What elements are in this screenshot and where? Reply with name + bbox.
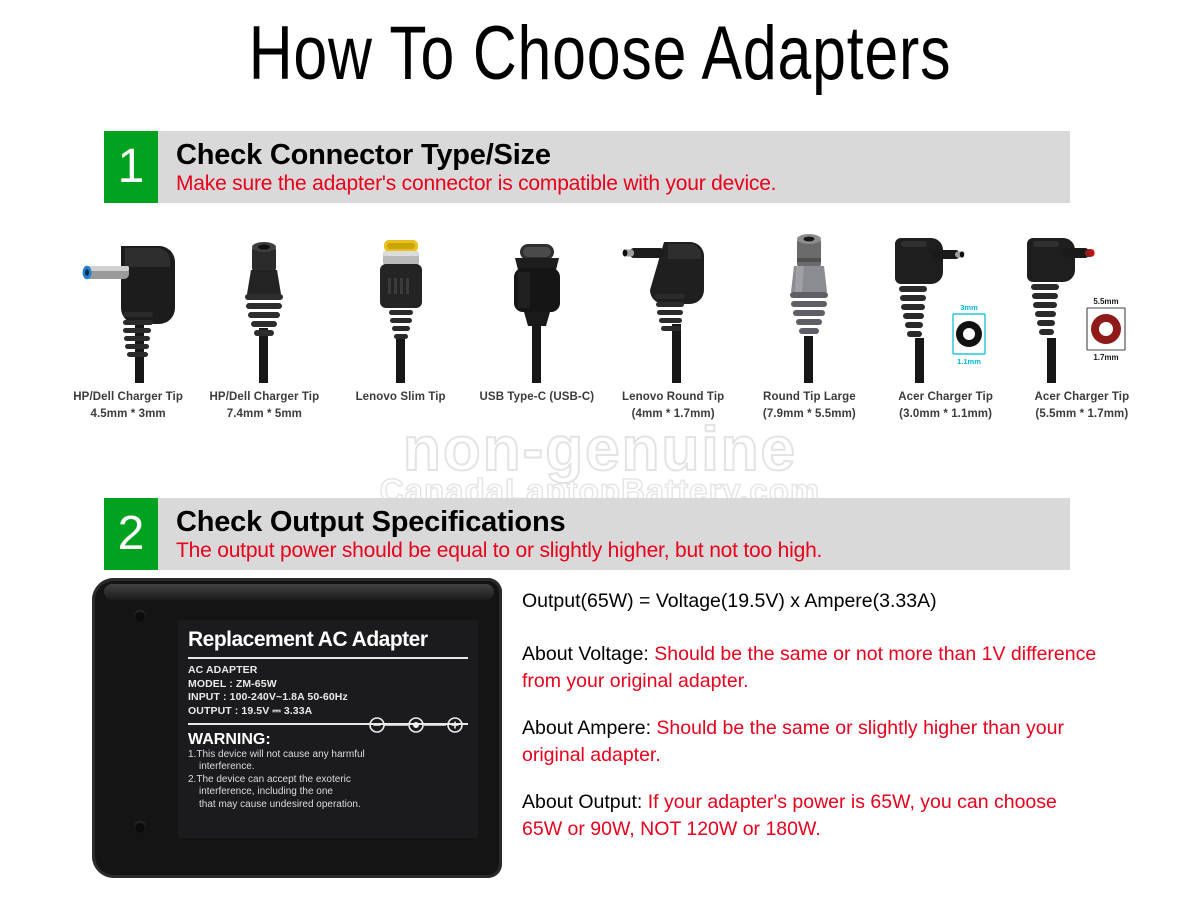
step-2-number-badge: 2: [104, 498, 158, 570]
step-1-subtitle: Make sure the adapter's connector is com…: [176, 171, 1070, 196]
ac-adapter-photo: Replacement AC Adapter AC ADAPTER MODEL …: [92, 578, 502, 878]
connector-item: Lenovo Round Tip (4mm * 1.7mm): [605, 228, 741, 438]
connector-item: Round Tip Large (7.9mm * 5.5mm): [741, 228, 877, 438]
spec-line: AC ADAPTER: [188, 664, 468, 678]
spec-ampere: About Ampere: Should be the same or slig…: [522, 715, 1102, 769]
step-1-band: Check Connector Type/Size Make sure the …: [158, 131, 1070, 203]
hp-dell-right-angle-blue-tip-icon: [63, 228, 193, 383]
step-2-band: Check Output Specifications The output p…: [158, 498, 1070, 570]
warning-text: The device can accept the exoteric: [196, 774, 351, 785]
lenovo-round-right-angle-tip-icon: [608, 228, 738, 383]
connector-caption: Lenovo Slim Tip: [356, 389, 446, 406]
lenovo-slim-yellow-rectangular-tip-icon: [336, 228, 466, 383]
connector-item: HP/Dell Charger Tip 7.4mm * 5mm: [196, 228, 332, 438]
warning-text: interference, including the one: [188, 786, 468, 798]
connector-caption: HP/Dell Charger Tip 4.5mm * 3mm: [73, 389, 183, 423]
spec-line: MODEL : ZM-65W: [188, 678, 468, 692]
connector-caption: USB Type-C (USB-C): [480, 389, 595, 406]
round-tip-large-gray-icon: [744, 228, 874, 383]
infographic-page: How To Choose Adapters 1 Check Connector…: [0, 0, 1200, 900]
connector-caption: Lenovo Round Tip (4mm * 1.7mm): [622, 389, 724, 423]
svg-text:5.5mm: 5.5mm: [1093, 297, 1118, 306]
svg-text:1.1mm: 1.1mm: [957, 357, 981, 366]
warning-item: 1.This device will not cause any harmful…: [188, 749, 468, 774]
screw-hole-icon: [134, 610, 146, 622]
connector-gallery: HP/Dell Charger Tip 4.5mm * 3mm: [60, 228, 1150, 438]
divider: [188, 657, 468, 659]
step-2-header: 2 Check Output Specifications The output…: [104, 498, 1070, 570]
warning-text: interference.: [188, 761, 468, 773]
usb-type-c-connector-icon: [472, 228, 602, 383]
adapter-label-title: Replacement AC Adapter: [188, 628, 468, 652]
connector-item: 5.5mm 1.7mm Acer Charger Tip (5.5mm * 1.…: [1014, 228, 1150, 438]
spec-voltage: About Voltage: Should be the same or not…: [522, 641, 1102, 695]
connector-caption: Acer Charger Tip (3.0mm * 1.1mm): [898, 389, 993, 423]
spec-voltage-key: About Voltage:: [522, 643, 649, 665]
adapter-label: Replacement AC Adapter AC ADAPTER MODEL …: [178, 620, 478, 838]
hp-dell-barrel-tip-icon: [199, 228, 329, 383]
output-formula: Output(65W) = Voltage(19.5V) x Ampere(3.…: [522, 588, 1102, 615]
step-2-subtitle: The output power should be equal to or s…: [176, 538, 1070, 563]
acer-straight-tip-icon: 5.5mm 1.7mm: [1017, 228, 1147, 383]
center-positive-polarity-icon: [368, 716, 464, 734]
svg-text:1.7mm: 1.7mm: [1093, 353, 1118, 362]
step-1-title: Check Connector Type/Size: [176, 139, 1070, 171]
brick-highlight: [104, 584, 494, 600]
connector-item: USB Type-C (USB-C): [469, 228, 605, 438]
warning-item: 2.The device can accept the exoteric int…: [188, 774, 468, 811]
connector-item: Lenovo Slim Tip: [333, 228, 469, 438]
warning-text: This device will not cause any harmful: [196, 749, 364, 760]
page-title: How To Choose Adapters: [120, 12, 1080, 96]
connector-caption: Round Tip Large (7.9mm * 5.5mm): [763, 389, 856, 423]
spec-output: About Output: If your adapter's power is…: [522, 789, 1102, 843]
step-1-number-badge: 1: [104, 131, 158, 203]
output-specs: Output(65W) = Voltage(19.5V) x Ampere(3.…: [522, 588, 1102, 863]
spec-line: INPUT : 100-240V~1.8A 50-60Hz: [188, 691, 468, 705]
warning-text: that may cause undesired operation.: [188, 799, 468, 811]
step-2-title: Check Output Specifications: [176, 506, 1070, 538]
spec-ampere-key: About Ampere:: [522, 717, 651, 739]
connector-caption: Acer Charger Tip (5.5mm * 1.7mm): [1035, 389, 1130, 423]
connector-caption: HP/Dell Charger Tip 7.4mm * 5mm: [210, 389, 320, 423]
connector-item: 3mm 1.1mm Acer Charger Tip (3.0mm * 1.1m…: [878, 228, 1014, 438]
screw-hole-icon: [134, 821, 146, 833]
step-1-header: 1 Check Connector Type/Size Make sure th…: [104, 131, 1070, 203]
acer-right-angle-tip-icon: 3mm 1.1mm: [881, 228, 1011, 383]
svg-text:3mm: 3mm: [960, 303, 978, 312]
spec-output-key: About Output:: [522, 791, 642, 813]
connector-item: HP/Dell Charger Tip 4.5mm * 3mm: [60, 228, 196, 438]
